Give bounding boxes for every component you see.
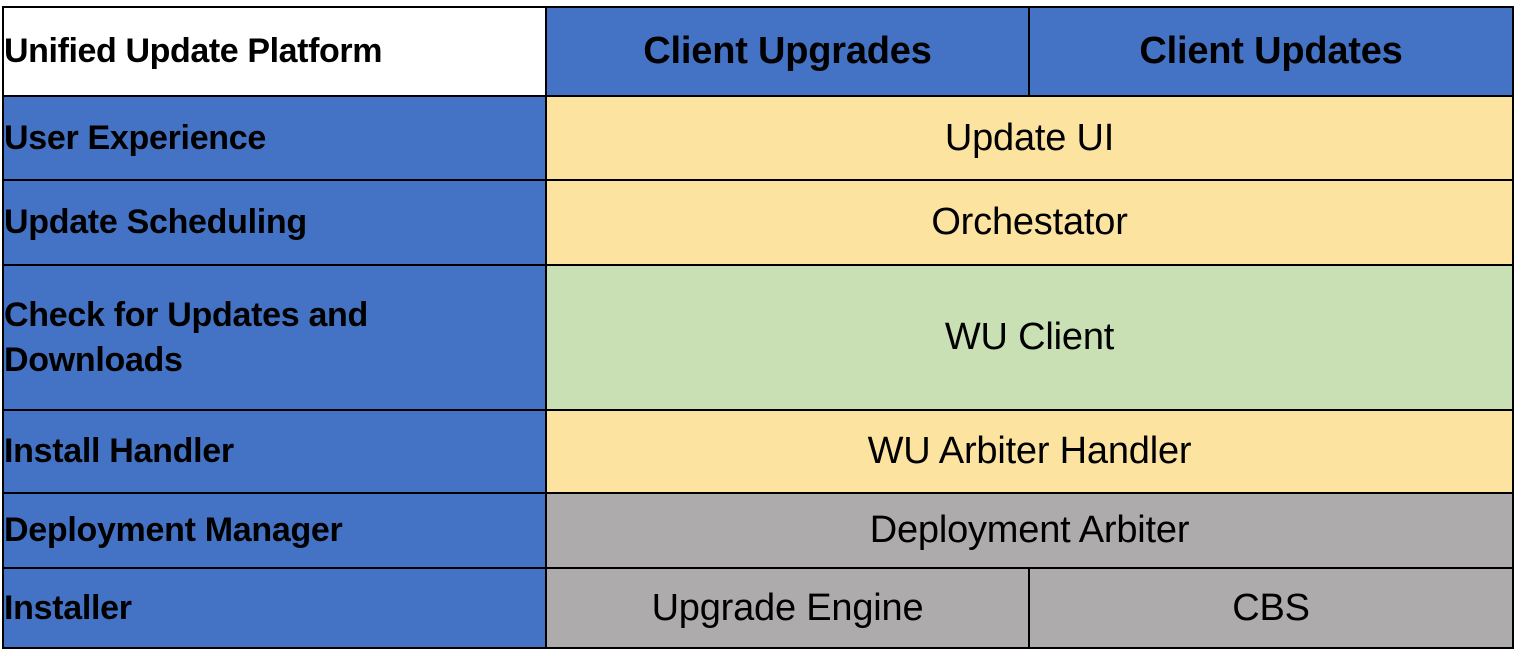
table-header-row: Unified Update Platform Client Upgrades … bbox=[3, 7, 1513, 96]
row-label-install-handler: Install Handler bbox=[3, 410, 546, 493]
column-header-client-upgrades: Client Upgrades bbox=[546, 7, 1029, 96]
cell-wu-arbiter-handler: WU Arbiter Handler bbox=[546, 410, 1513, 493]
row-label-deployment-manager: Deployment Manager bbox=[3, 493, 546, 568]
table-row: User Experience Update UI bbox=[3, 96, 1513, 180]
column-header-client-updates: Client Updates bbox=[1029, 7, 1513, 96]
row-label-installer: Installer bbox=[3, 568, 546, 648]
table-row: Install Handler WU Arbiter Handler bbox=[3, 410, 1513, 493]
table-row: Deployment Manager Deployment Arbiter bbox=[3, 493, 1513, 568]
cell-update-ui: Update UI bbox=[546, 96, 1513, 180]
cell-orchestator: Orchestator bbox=[546, 180, 1513, 265]
diagram-title: Unified Update Platform bbox=[3, 7, 546, 96]
uup-table: Unified Update Platform Client Upgrades … bbox=[2, 6, 1514, 649]
row-label-user-experience: User Experience bbox=[3, 96, 546, 180]
table-row: Check for Updates and Downloads WU Clien… bbox=[3, 265, 1513, 410]
table-row: Update Scheduling Orchestator bbox=[3, 180, 1513, 265]
cell-cbs: CBS bbox=[1029, 568, 1513, 648]
uup-layer-diagram: Unified Update Platform Client Upgrades … bbox=[0, 0, 1522, 656]
cell-deployment-arbiter: Deployment Arbiter bbox=[546, 493, 1513, 568]
row-label-check-for-updates-and-downloads: Check for Updates and Downloads bbox=[3, 265, 546, 410]
table-row: Installer Upgrade Engine CBS bbox=[3, 568, 1513, 648]
cell-wu-client: WU Client bbox=[546, 265, 1513, 410]
row-label-update-scheduling: Update Scheduling bbox=[3, 180, 546, 265]
cell-upgrade-engine: Upgrade Engine bbox=[546, 568, 1029, 648]
